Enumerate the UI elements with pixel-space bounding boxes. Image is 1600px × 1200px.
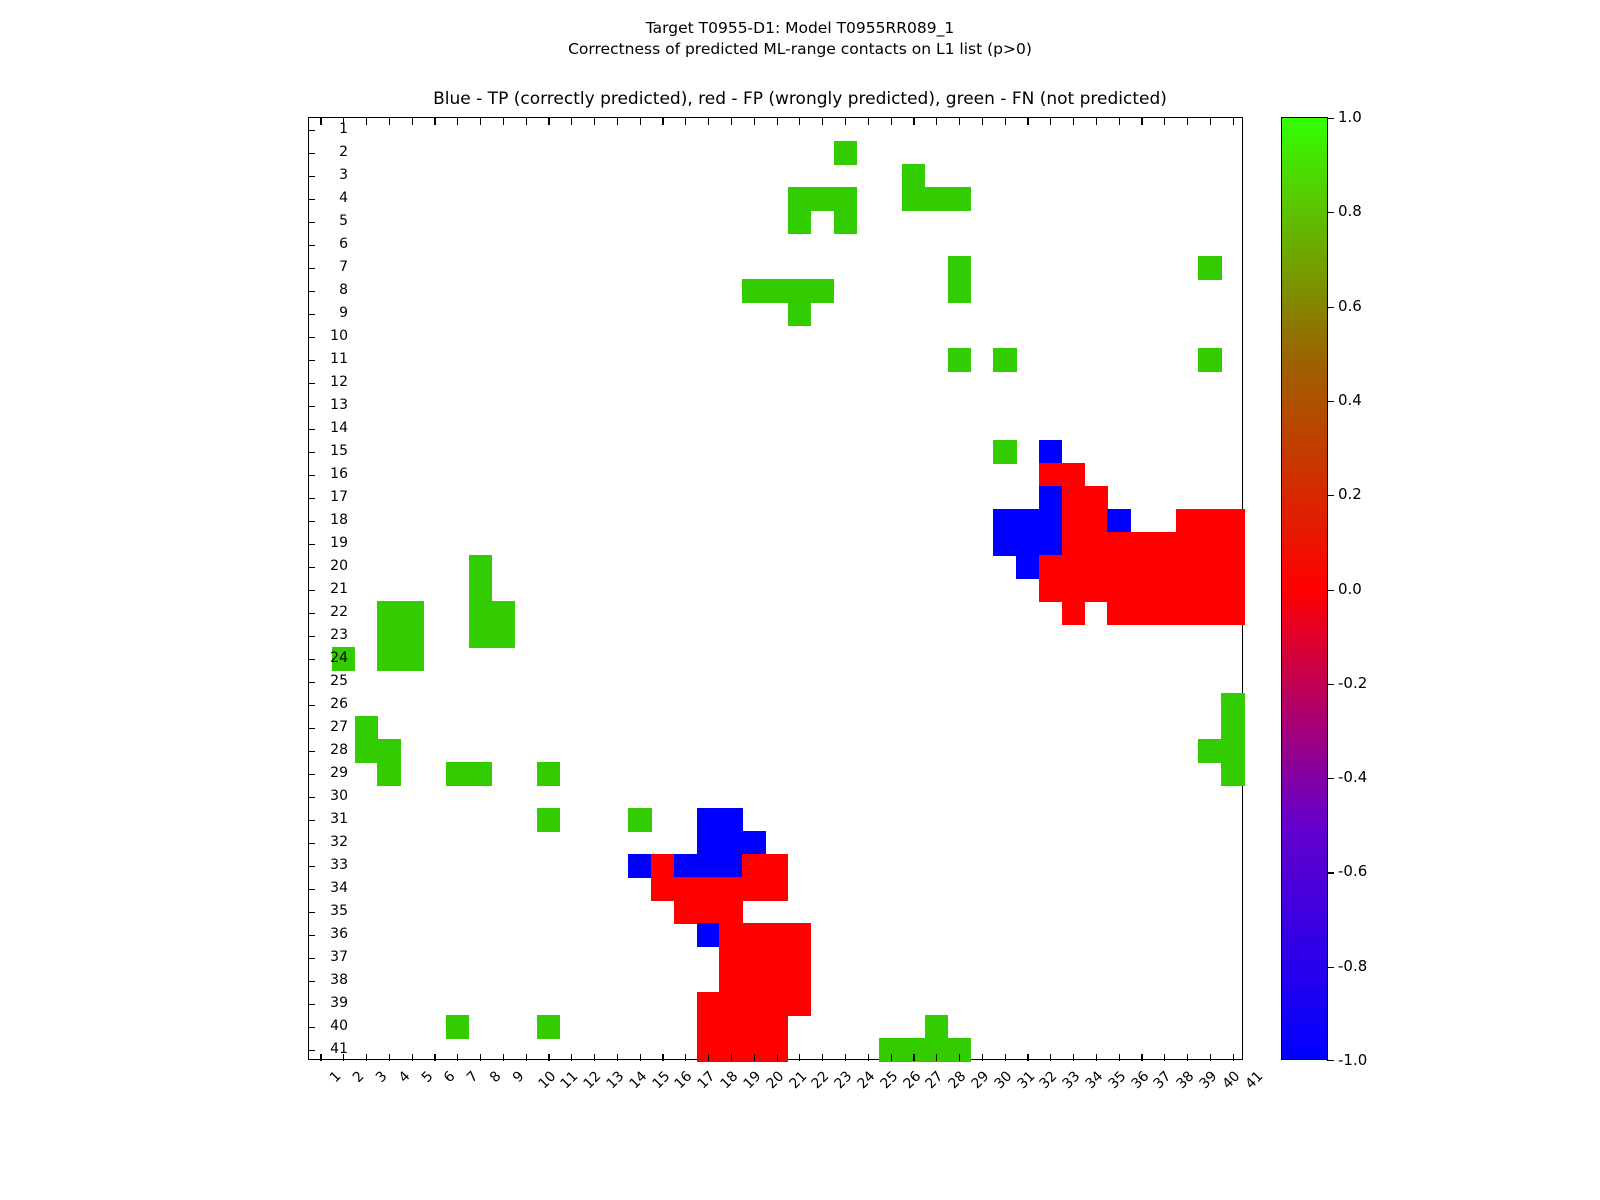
colorbar-tick-label: -1.0 [1338, 1053, 1367, 1068]
y-axis-tick [309, 383, 315, 384]
y-tick-label: 40 [330, 1019, 348, 1033]
x-axis-tick-top [412, 118, 413, 125]
x-axis-tick-top [959, 118, 960, 125]
heatmap-cell [1062, 555, 1085, 579]
heatmap-cell [1198, 256, 1221, 280]
y-axis-tick [309, 590, 315, 591]
heatmap-cell [1176, 578, 1199, 602]
y-tick-label: 30 [330, 789, 348, 803]
x-axis-tick-top [777, 118, 778, 125]
y-tick-label: 24 [330, 651, 348, 665]
colorbar-tick-label: 0.6 [1338, 299, 1362, 314]
legend-text: Blue - TP (correctly predicted), red - F… [0, 88, 1600, 110]
heatmap-cell [1153, 555, 1176, 579]
heatmap-cell [1153, 532, 1176, 556]
heatmap-cell [1198, 601, 1221, 625]
heatmap-cell [742, 923, 765, 947]
y-tick-label: 25 [330, 674, 348, 688]
y-tick-label: 9 [339, 306, 348, 320]
x-tick-label: 33 [1060, 1069, 1083, 1092]
x-tick-label: 5 [419, 1069, 435, 1085]
y-axis-tick [309, 291, 315, 292]
x-tick-label: 32 [1038, 1069, 1061, 1092]
x-tick-label: 16 [673, 1069, 696, 1092]
y-tick-label: 5 [339, 214, 348, 228]
x-tick-label: 4 [396, 1069, 412, 1085]
y-axis-tick [309, 659, 315, 660]
heatmap-cell [948, 279, 971, 303]
heatmap-cell [469, 578, 492, 602]
heatmap-cell [400, 647, 423, 671]
heatmap-cell [537, 762, 560, 786]
heatmap-cell [742, 279, 765, 303]
x-axis-tick-top [1210, 118, 1211, 125]
heatmap-cell [902, 187, 925, 211]
y-axis-tick [309, 544, 315, 545]
x-tick-label: 35 [1106, 1069, 1129, 1092]
heatmap-cell [1039, 486, 1062, 510]
heatmap-cell [719, 854, 742, 878]
x-axis-tick [457, 1054, 458, 1061]
heatmap-cell [742, 1015, 765, 1039]
x-tick-label: 28 [946, 1069, 969, 1092]
heatmap-cell [1130, 555, 1153, 579]
colorbar-tick [1327, 212, 1334, 213]
heatmap-cell [1107, 509, 1130, 533]
heatmap-cell [1062, 578, 1085, 602]
x-tick-label: 20 [764, 1069, 787, 1092]
x-tick-label: 14 [627, 1069, 650, 1092]
x-axis-tick-top [571, 118, 572, 125]
y-axis-tick [309, 912, 315, 913]
colorbar-tick-label: 1.0 [1338, 110, 1362, 125]
colorbar-tick-label: -0.2 [1338, 676, 1367, 691]
heatmap-cell [1062, 509, 1085, 533]
heatmap-cell [742, 854, 765, 878]
heatmap-cell [993, 532, 1016, 556]
y-tick-label: 18 [330, 513, 348, 527]
heatmap-cell [765, 946, 788, 970]
heatmap-cell [834, 141, 857, 165]
heatmap-cell [651, 854, 674, 878]
y-axis-tick [309, 705, 315, 706]
heatmap-cell [377, 601, 400, 625]
x-axis-tick [868, 1054, 869, 1061]
heatmap-cell [788, 279, 811, 303]
heatmap-cell [1176, 555, 1199, 579]
x-axis-tick-top [936, 118, 937, 125]
y-tick-label: 38 [330, 973, 348, 987]
x-axis-tick-top [891, 118, 892, 125]
x-tick-label: 38 [1174, 1069, 1197, 1092]
colorbar-tick [1327, 495, 1334, 496]
x-axis-tick [799, 1054, 800, 1061]
heatmap-cell [993, 509, 1016, 533]
y-tick-label: 13 [330, 398, 348, 412]
x-tick-label: 40 [1220, 1069, 1243, 1092]
heatmap-cell [719, 923, 742, 947]
y-tick-label: 17 [330, 490, 348, 504]
x-tick-label: 18 [718, 1069, 741, 1092]
heatmap-cell [491, 624, 514, 648]
x-tick-label: 22 [810, 1069, 833, 1092]
y-tick-label: 39 [330, 996, 348, 1010]
y-tick-label: 28 [330, 743, 348, 757]
heatmap-cell [1107, 601, 1130, 625]
y-tick-label: 34 [330, 881, 348, 895]
x-axis-tick [1119, 1054, 1120, 1061]
x-tick-label: 10 [536, 1069, 559, 1092]
y-axis-tick [309, 245, 315, 246]
heatmap-cell [788, 992, 811, 1016]
y-tick-label: 32 [330, 835, 348, 849]
heatmap-cell [1084, 486, 1107, 510]
heatmap-cell [1221, 716, 1244, 740]
y-axis-tick [309, 1027, 315, 1028]
heatmap-cell [788, 946, 811, 970]
x-axis-tick [731, 1054, 732, 1061]
colorbar-gradient [1282, 118, 1327, 1059]
heatmap-cell [834, 210, 857, 234]
x-tick-label: 19 [741, 1069, 764, 1092]
x-axis-tick-top [1005, 118, 1006, 125]
heatmap-cell [1198, 532, 1221, 556]
y-tick-label: 19 [330, 536, 348, 550]
x-axis-tick-top [1187, 118, 1188, 125]
x-axis-tick [1187, 1054, 1188, 1061]
x-axis-tick-top [982, 118, 983, 125]
heatmap-cell [948, 187, 971, 211]
heatmap-cell [765, 923, 788, 947]
colorbar-tick [1327, 401, 1334, 402]
y-tick-label: 35 [330, 904, 348, 918]
x-axis-tick [1210, 1054, 1211, 1061]
y-axis-tick [309, 567, 315, 568]
heatmap-cell [742, 831, 765, 855]
y-axis-tick [309, 958, 315, 959]
x-axis-tick-top [457, 118, 458, 125]
y-tick-label: 7 [339, 260, 348, 274]
heatmap-cell [1221, 739, 1244, 763]
y-axis-tick [309, 360, 315, 361]
x-tick-label: 29 [969, 1069, 992, 1092]
y-tick-label: 23 [330, 628, 348, 642]
heatmap-cell [765, 1015, 788, 1039]
heatmap-cell [697, 854, 720, 878]
y-axis-tick [309, 981, 315, 982]
x-tick-label: 12 [581, 1069, 604, 1092]
y-tick-label: 16 [330, 467, 348, 481]
y-tick-label: 37 [330, 950, 348, 964]
heatmap-cell [788, 969, 811, 993]
heatmap-cell [1062, 486, 1085, 510]
y-axis-tick [309, 314, 315, 315]
heatmap-cell [1039, 532, 1062, 556]
x-axis-tick [891, 1054, 892, 1061]
x-axis-tick [685, 1054, 686, 1061]
heatmap-cell [765, 969, 788, 993]
heatmap-cell [925, 187, 948, 211]
colorbar-tick-label: -0.4 [1338, 770, 1367, 785]
x-tick-label: 6 [442, 1069, 458, 1085]
x-tick-label: 7 [465, 1069, 481, 1085]
heatmap-cell [902, 164, 925, 188]
x-axis-tick [548, 1054, 549, 1061]
x-axis-tick [503, 1054, 504, 1061]
x-tick-label: 34 [1083, 1069, 1106, 1092]
y-tick-label: 3 [339, 168, 348, 182]
x-axis-tick [1073, 1054, 1074, 1061]
colorbar-tick-label: -0.8 [1338, 959, 1367, 974]
heatmap-cell [674, 854, 697, 878]
heatmap-cell [537, 808, 560, 832]
x-axis-tick-top [594, 118, 595, 125]
colorbar-tick [1327, 590, 1334, 591]
x-axis-tick-top [640, 118, 641, 125]
x-axis-tick [412, 1054, 413, 1061]
y-axis-tick [309, 889, 315, 890]
y-axis-tick [309, 613, 315, 614]
figure-root: Target T0955-D1: Model T0955RR089_1 Corr… [0, 0, 1600, 1200]
colorbar-tick-label: 0.8 [1338, 204, 1362, 219]
heatmap-cell [1130, 601, 1153, 625]
x-axis-tick [754, 1054, 755, 1061]
y-tick-label: 41 [330, 1042, 348, 1056]
colorbar-tick-label: -0.6 [1338, 864, 1367, 879]
x-axis-tick-top [754, 118, 755, 125]
heatmap-cell [719, 946, 742, 970]
x-tick-label: 30 [992, 1069, 1015, 1092]
figure-title: Target T0955-D1: Model T0955RR089_1 Corr… [0, 18, 1600, 60]
x-axis-tick-top [662, 118, 663, 125]
x-axis-tick-top [389, 118, 390, 125]
heatmap-cell [469, 555, 492, 579]
heatmap-cell [1107, 532, 1130, 556]
colorbar-tick [1327, 307, 1334, 308]
y-tick-label: 22 [330, 605, 348, 619]
heatmap-cell [377, 647, 400, 671]
heatmap-cell [1107, 578, 1130, 602]
x-axis-tick [594, 1054, 595, 1061]
colorbar-tick-label: 0.4 [1338, 393, 1362, 408]
x-axis-tick-top [526, 118, 527, 125]
heatmap-cell [811, 187, 834, 211]
heatmap-cell [993, 440, 1016, 464]
x-tick-label: 25 [878, 1069, 901, 1092]
heatmap-cell [742, 946, 765, 970]
colorbar [1281, 117, 1328, 1060]
y-axis-tick [309, 797, 315, 798]
y-tick-label: 10 [330, 329, 348, 343]
x-axis-tick [1027, 1054, 1028, 1061]
y-axis-tick [309, 935, 315, 936]
heatmap-cell [469, 762, 492, 786]
x-axis-tick [320, 1054, 321, 1061]
heatmap-cell [1016, 509, 1039, 533]
x-tick-label: 31 [1015, 1069, 1038, 1092]
heatmap-cell [697, 900, 720, 924]
heatmap-cell [1084, 555, 1107, 579]
y-tick-label: 8 [339, 283, 348, 297]
heatmap-cell [537, 1015, 560, 1039]
title-line-2: Correctness of predicted ML-range contac… [0, 39, 1600, 60]
heatmap-cell [1084, 578, 1107, 602]
y-axis-tick [309, 1004, 315, 1005]
x-axis-tick-top [1027, 118, 1028, 125]
heatmap-cell [697, 808, 720, 832]
y-tick-label: 29 [330, 766, 348, 780]
y-axis-tick [309, 475, 315, 476]
y-tick-label: 26 [330, 697, 348, 711]
title-line-1: Target T0955-D1: Model T0955RR089_1 [0, 18, 1600, 39]
heatmap-cell [788, 210, 811, 234]
heatmap-cell [719, 992, 742, 1016]
heatmap-cell [697, 877, 720, 901]
heatmap-cell [719, 831, 742, 855]
heatmap-cell [1107, 555, 1130, 579]
heatmap-cell [1176, 532, 1199, 556]
x-axis-tick-top [320, 118, 321, 125]
y-axis-tick [309, 820, 315, 821]
y-tick-label: 27 [330, 720, 348, 734]
heatmap-cell [742, 992, 765, 1016]
colorbar-tick [1327, 684, 1334, 685]
x-tick-label: 2 [351, 1069, 367, 1085]
y-axis-tick [309, 774, 315, 775]
x-axis-tick [526, 1054, 527, 1061]
heatmap-cell [788, 302, 811, 326]
x-tick-label: 21 [787, 1069, 810, 1092]
colorbar-tick [1327, 967, 1334, 968]
heatmap-cell [1221, 509, 1244, 533]
heatmap-cell [719, 808, 742, 832]
x-tick-label: 17 [695, 1069, 718, 1092]
x-axis-tick-top [731, 118, 732, 125]
x-axis-tick-top [1096, 118, 1097, 125]
heatmap-cell [697, 923, 720, 947]
x-axis-tick [571, 1054, 572, 1061]
y-axis-tick [309, 751, 315, 752]
colorbar-tick [1327, 1060, 1334, 1061]
x-axis-tick-top [480, 118, 481, 125]
y-tick-label: 21 [330, 582, 348, 596]
y-tick-label: 11 [330, 352, 348, 366]
heatmap-cell [1221, 601, 1244, 625]
y-axis-tick [309, 498, 315, 499]
x-axis-tick [434, 1054, 435, 1061]
heatmap-cell [697, 992, 720, 1016]
colorbar-tick [1327, 118, 1334, 119]
contact-map-plot [308, 117, 1243, 1060]
heatmap-cell [742, 877, 765, 901]
heatmap-cell [1084, 509, 1107, 533]
heatmap-cell [1198, 578, 1221, 602]
y-axis-tick [309, 199, 315, 200]
x-axis-tick-top [1050, 118, 1051, 125]
x-axis-tick [936, 1054, 937, 1061]
heatmap-cell [765, 877, 788, 901]
heatmap-cell [719, 877, 742, 901]
y-axis-tick [309, 682, 315, 683]
colorbar-tick [1327, 872, 1334, 873]
heatmap-cell [377, 624, 400, 648]
heatmap-cell [765, 854, 788, 878]
heatmap-cell [377, 762, 400, 786]
heatmap-cell [491, 601, 514, 625]
x-tick-label: 24 [855, 1069, 878, 1092]
colorbar-tick-label: 0.2 [1338, 487, 1362, 502]
heatmap-cell [1198, 509, 1221, 533]
x-axis-tick [640, 1054, 641, 1061]
y-axis-tick [309, 268, 315, 269]
x-axis-tick [480, 1054, 481, 1061]
heatmap-cell [1221, 693, 1244, 717]
heatmap-cell [1016, 555, 1039, 579]
heatmap-cell [651, 877, 674, 901]
heatmap-cell [1198, 555, 1221, 579]
x-axis-tick-top [617, 118, 618, 125]
x-axis-tick-top [822, 118, 823, 125]
y-axis-tick [309, 176, 315, 177]
heatmap-cell [1198, 739, 1221, 763]
heatmap-cell [355, 716, 378, 740]
x-tick-label: 27 [924, 1069, 947, 1092]
x-axis-tick [1096, 1054, 1097, 1061]
heatmap-cell [355, 739, 378, 763]
x-axis-tick [1164, 1054, 1165, 1061]
heatmap-cell [834, 187, 857, 211]
x-axis-tick-top [1233, 118, 1234, 125]
x-tick-label: 15 [650, 1069, 673, 1092]
heatmap-cell [719, 969, 742, 993]
heatmap-cell [788, 187, 811, 211]
heatmap-cell [948, 256, 971, 280]
y-tick-label: 14 [330, 421, 348, 435]
heatmap-cell [1039, 463, 1062, 487]
heatmap-cell [1221, 555, 1244, 579]
y-tick-label: 15 [330, 444, 348, 458]
heatmap-cell [1198, 348, 1221, 372]
heatmap-cell [1062, 463, 1085, 487]
figure-subtitle: Blue - TP (correctly predicted), red - F… [0, 88, 1600, 110]
heatmap-cell [400, 601, 423, 625]
x-axis-tick [845, 1054, 846, 1061]
y-axis-tick [309, 153, 315, 154]
y-axis-tick [309, 222, 315, 223]
y-axis-tick [309, 1050, 315, 1051]
heatmap-cell [1016, 532, 1039, 556]
heatmap-cell [1039, 440, 1062, 464]
heatmap-cell [697, 831, 720, 855]
heatmap-cell [628, 808, 651, 832]
y-tick-label: 20 [330, 559, 348, 573]
x-tick-label: 9 [510, 1069, 526, 1085]
x-axis-tick-top [913, 118, 914, 125]
heatmap-cell [446, 762, 469, 786]
y-tick-label: 2 [339, 145, 348, 159]
heatmap-cell [811, 279, 834, 303]
heatmap-cell [765, 992, 788, 1016]
y-tick-label: 4 [339, 191, 348, 205]
heatmap-cell [1153, 601, 1176, 625]
x-axis-tick [662, 1054, 663, 1061]
x-axis-tick [1050, 1054, 1051, 1061]
x-tick-label: 1 [328, 1069, 344, 1085]
x-axis-tick-top [799, 118, 800, 125]
y-axis-tick [309, 866, 315, 867]
x-axis-tick [617, 1054, 618, 1061]
heatmap-cell [1221, 578, 1244, 602]
